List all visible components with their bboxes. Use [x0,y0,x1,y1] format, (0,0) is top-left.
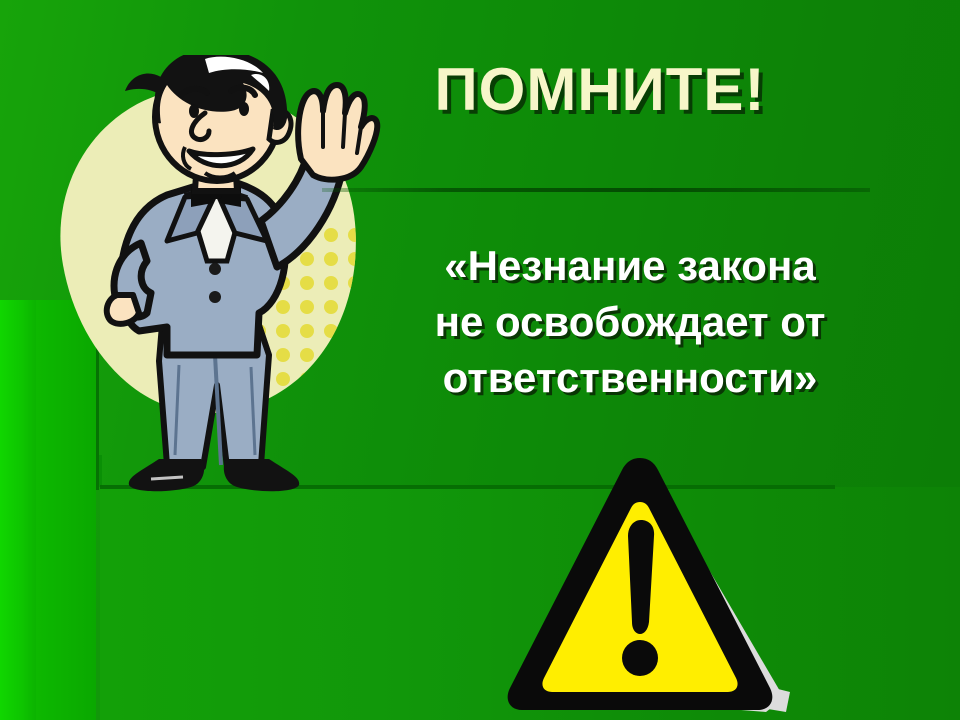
presentation-slide: ПОМНИТЕ! «Незнание закона не освобождает… [0,0,960,720]
title-divider-line [322,188,870,192]
warning-triangle-sign-illustration [478,440,818,720]
left-accent-stripe [0,300,36,720]
slide-quote: «Незнание закона не освобождает от ответ… [330,238,930,406]
slide-title: ПОМНИТЕ! [300,58,900,121]
quote-line-1: «Незнание закона [330,238,930,294]
quote-line-3: ответственности» [330,350,930,406]
quote-line-2: не освобождает от [330,294,930,350]
